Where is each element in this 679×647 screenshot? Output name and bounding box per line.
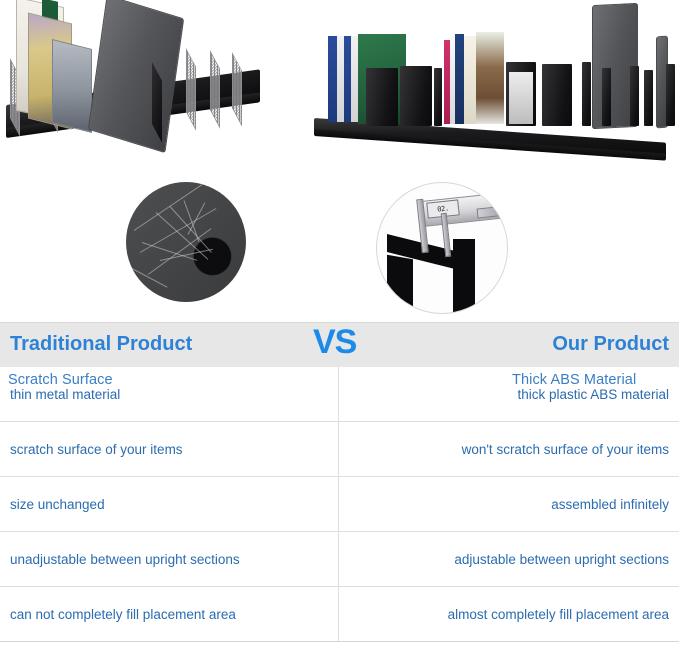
mesh-divider xyxy=(232,52,242,127)
photo-our-organizer xyxy=(300,0,679,170)
cell-traditional: thin metal material xyxy=(0,367,339,421)
table-row: size unchanged assembled infinitely xyxy=(0,477,679,532)
upright-section xyxy=(602,68,611,126)
binder-blue-2 xyxy=(344,36,351,122)
upright-section xyxy=(366,68,398,126)
table-row: thin metal material thick plastic ABS ma… xyxy=(0,367,679,422)
magazine-cream xyxy=(464,36,476,124)
book-cover-blue xyxy=(52,39,92,133)
upright-section xyxy=(542,64,572,126)
upright-section xyxy=(400,66,432,126)
comparison-table: Traditional Product VS Our Product thin … xyxy=(0,322,679,642)
header-traditional-product: Traditional Product xyxy=(10,334,192,354)
table-row: can not completely fill placement area a… xyxy=(0,587,679,642)
comparison-header: Traditional Product VS Our Product xyxy=(0,323,679,367)
mesh-divider xyxy=(210,50,220,129)
caliper-rail xyxy=(477,205,508,218)
header-our-product: Our Product xyxy=(552,334,669,354)
magazine-green-cover xyxy=(476,32,504,124)
upright-section xyxy=(434,68,442,126)
table-row: scratch surface of your items won't scra… xyxy=(0,422,679,477)
laptop-panel xyxy=(88,0,184,153)
cell-ours: thick plastic ABS material xyxy=(339,367,679,421)
cell-traditional: size unchanged xyxy=(0,477,339,531)
mesh-divider xyxy=(186,48,196,131)
comparison-rows: thin metal material thick plastic ABS ma… xyxy=(0,367,679,642)
upright-section xyxy=(630,66,639,126)
upright-section xyxy=(644,70,653,126)
upright-section xyxy=(666,64,675,126)
feature-callout-band: Scratch Surface 02. Thick ABS Material xyxy=(0,170,679,322)
traditional-organizer-scene xyxy=(0,0,300,170)
table-row: unadjustable between upright sections ad… xyxy=(0,532,679,587)
binder-white-2 xyxy=(351,36,358,122)
abs-corner-vertical xyxy=(453,239,475,313)
cell-ours: won't scratch surface of your items xyxy=(339,422,679,476)
cell-traditional: scratch surface of your items xyxy=(0,422,339,476)
photo-traditional-organizer xyxy=(0,0,300,170)
magazine-grey xyxy=(509,72,533,124)
cell-ours: adjustable between upright sections xyxy=(339,532,679,586)
our-organizer-scene xyxy=(300,0,679,170)
cell-traditional: unadjustable between upright sections xyxy=(0,532,339,586)
cell-ours: assembled infinitely xyxy=(339,477,679,531)
abs-corner-foot xyxy=(387,255,413,314)
scratch-surface-photo xyxy=(126,182,246,302)
binder-white-1 xyxy=(337,36,344,122)
product-photo-strip xyxy=(0,0,679,170)
cell-traditional: can not completely fill placement area xyxy=(0,587,339,641)
vs-badge: VS xyxy=(313,325,356,359)
binder-blue xyxy=(328,36,337,122)
thick-abs-photo: 02. xyxy=(376,182,508,314)
cell-ours: almost completely fill placement area xyxy=(339,587,679,641)
magazine-blue xyxy=(455,34,464,124)
scratch-line xyxy=(184,200,200,242)
upright-section xyxy=(582,62,591,126)
